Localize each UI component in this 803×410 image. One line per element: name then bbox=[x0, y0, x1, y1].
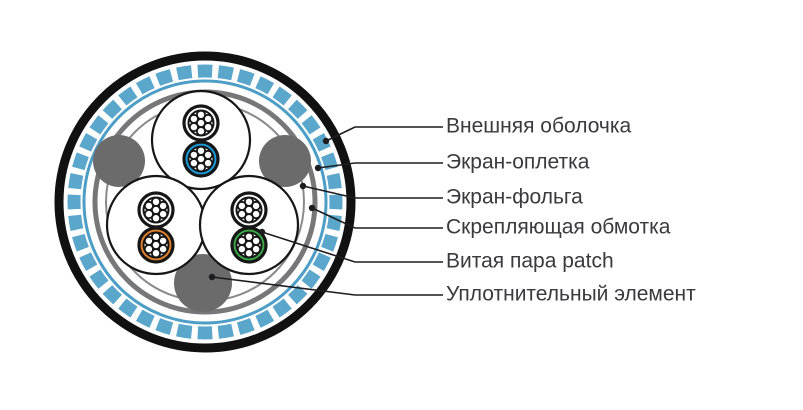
braid-segment bbox=[239, 75, 253, 79]
conductor bbox=[184, 106, 218, 140]
braid-segment bbox=[177, 72, 191, 74]
braid-segment bbox=[276, 92, 288, 100]
strand bbox=[190, 159, 198, 167]
strand bbox=[145, 210, 153, 218]
braid-segment bbox=[95, 119, 103, 131]
braid-segment bbox=[239, 324, 253, 328]
callout-label-braid-shield: Экран-оплетка bbox=[446, 151, 590, 174]
strand bbox=[190, 123, 198, 131]
strand bbox=[252, 237, 260, 245]
braid-segment bbox=[318, 255, 325, 268]
strand bbox=[238, 210, 246, 218]
callout-binder-tape: Скрепляющая обмотка bbox=[309, 205, 671, 239]
strand bbox=[252, 202, 260, 210]
pair-orange bbox=[107, 176, 205, 274]
leader-dot bbox=[300, 183, 306, 189]
cable-cross-section-diagram: Внешняя оболочкаЭкран-оплеткаЭкран-фольг… bbox=[0, 0, 803, 410]
braid-segment bbox=[85, 136, 92, 149]
braid-segment bbox=[75, 215, 77, 229]
conductor bbox=[139, 193, 173, 227]
braid-segment bbox=[107, 104, 117, 114]
leader-dot bbox=[315, 165, 321, 171]
callout-braid-shield: Экран-оплетка bbox=[315, 151, 590, 174]
braid-segment bbox=[139, 315, 152, 322]
conductor bbox=[232, 193, 266, 227]
braid-segment bbox=[85, 255, 92, 268]
braid-segment bbox=[276, 304, 288, 312]
braid-segment bbox=[307, 273, 315, 285]
braid-segment bbox=[78, 236, 82, 250]
braid-segment bbox=[218, 72, 232, 74]
braid-segment bbox=[107, 289, 117, 299]
braid-segment bbox=[258, 315, 271, 322]
strand bbox=[159, 237, 167, 245]
braid-segment bbox=[75, 174, 77, 188]
braid-segment bbox=[333, 174, 335, 188]
strand bbox=[145, 245, 153, 253]
leader-dot bbox=[323, 138, 329, 144]
callout-outer-jacket: Внешняя оболочка bbox=[323, 115, 632, 145]
callout-label-twisted-pair: Витая пара patch bbox=[446, 250, 614, 273]
callout-label-foil-shield: Экран-фольга bbox=[446, 186, 583, 209]
braid-segment bbox=[95, 273, 103, 285]
braid-segment bbox=[218, 330, 232, 332]
callout-label-outer-jacket: Внешняя оболочка bbox=[446, 115, 632, 138]
braid-segment bbox=[292, 289, 302, 299]
cable-assembly bbox=[59, 56, 351, 348]
strand bbox=[204, 151, 212, 159]
callout-label-filler-element: Уплотнительный элемент bbox=[446, 283, 696, 306]
braid-segment bbox=[292, 104, 302, 114]
braid-segment bbox=[258, 82, 271, 89]
pair-blue bbox=[152, 91, 250, 189]
strand bbox=[204, 115, 212, 123]
diagram-stage: Внешняя оболочкаЭкран-оплеткаЭкран-фольг… bbox=[0, 0, 803, 410]
leader-dot bbox=[309, 205, 315, 211]
strand bbox=[238, 245, 246, 253]
braid-segment bbox=[307, 119, 315, 131]
braid-segment bbox=[139, 82, 152, 89]
braid-segment bbox=[122, 304, 134, 312]
braid-segment bbox=[177, 330, 191, 332]
conductor bbox=[184, 142, 218, 176]
braid-segment bbox=[158, 75, 172, 79]
braid-segment bbox=[78, 155, 82, 169]
leader-dot bbox=[209, 274, 215, 280]
callout-label-binder-tape: Скрепляющая обмотка bbox=[446, 216, 671, 239]
pair-green bbox=[200, 176, 298, 274]
conductor bbox=[139, 228, 173, 262]
leader-line bbox=[326, 127, 443, 141]
braid-segment bbox=[158, 324, 172, 328]
strand bbox=[159, 202, 167, 210]
braid-segment bbox=[327, 236, 331, 250]
leader-dot bbox=[259, 229, 265, 235]
braid-segment bbox=[122, 92, 134, 100]
